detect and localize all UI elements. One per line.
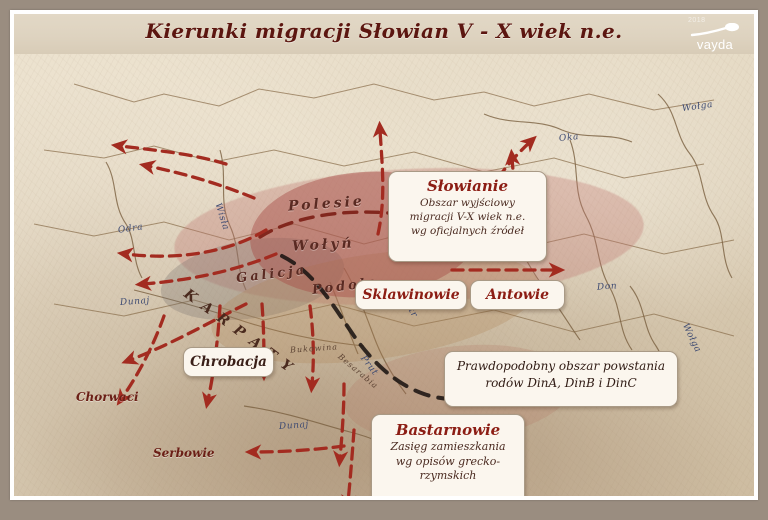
poster-frame: Kierunki migracji Słowian V - X wiek n.e… (10, 10, 758, 500)
spoon-logo-icon (690, 23, 740, 37)
callout-rody-line-1: Prawdopodobny obszar powstania (445, 358, 677, 375)
callout-bastarnowie-line-3: rzymskich (372, 469, 524, 484)
callout-bastarnowie[interactable]: Bastarnowie Zasięg zamieszkania wg opisó… (371, 414, 525, 496)
callout-bastarnowie-line-1: Zasięg zamieszkania (372, 440, 524, 455)
callout-chrobacja-heading: Chrobacja (184, 348, 273, 376)
callout-slowianie[interactable]: Słowianie Obszar wyjściowy migracji V-X … (388, 171, 547, 262)
map-canvas: Polesie Wołyń Galicja Podole K A R P A T… (14, 54, 754, 496)
vayda-logo: 2018 vayda (682, 17, 748, 53)
callout-antowie-heading: Antowie (471, 281, 564, 309)
callout-bastarnowie-line-2: wg opisów grecko- (372, 455, 524, 470)
logo-name: vayda (682, 37, 748, 52)
callout-slowianie-line-2: migracji V-X wiek n.e. (389, 210, 546, 224)
title-bar: Kierunki migracji Słowian V - X wiek n.e… (14, 14, 754, 54)
callout-bastarnowie-heading: Bastarnowie (372, 420, 524, 440)
callout-antowie[interactable]: Antowie (470, 280, 565, 310)
page-title: Kierunki migracji Słowian V - X wiek n.e… (14, 19, 754, 43)
callout-chrobacja[interactable]: Chrobacja (183, 347, 274, 377)
callout-sklawinowie[interactable]: Sklawinowie (355, 280, 467, 310)
callout-slowianie-line-1: Obszar wyjściowy (389, 196, 546, 210)
infographic-root: Kierunki migracji Słowian V - X wiek n.e… (0, 0, 768, 520)
callout-sklawinowie-heading: Sklawinowie (356, 281, 466, 309)
callout-slowianie-line-3: wg oficjalnych źródeł (389, 224, 546, 238)
poster-inner: Kierunki migracji Słowian V - X wiek n.e… (14, 14, 754, 496)
callout-rody-din[interactable]: Prawdopodobny obszar powstania rodów Din… (444, 351, 678, 407)
callout-rody-line-2: rodów DinA, DinB i DinC (445, 375, 677, 392)
callout-slowianie-heading: Słowianie (389, 177, 546, 196)
